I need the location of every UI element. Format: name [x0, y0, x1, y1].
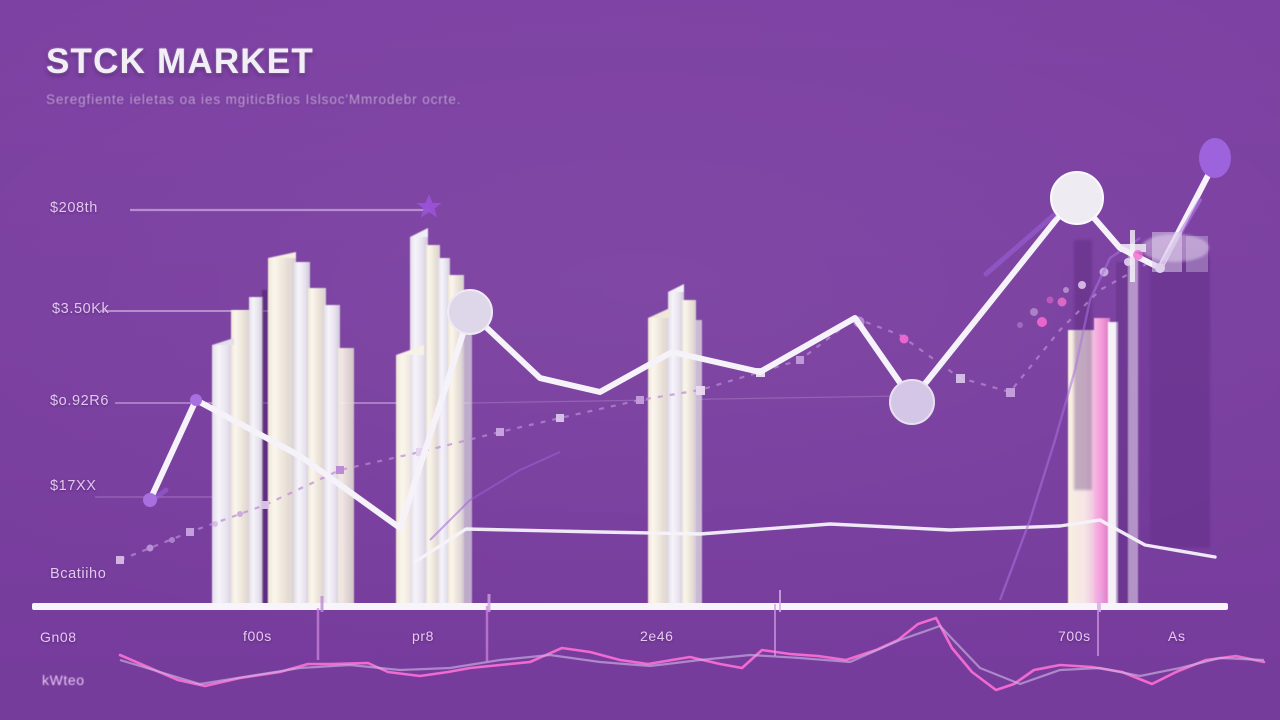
x-axis-label-2: pr8	[412, 628, 434, 644]
y-axis-label-2: $o.92R6	[50, 393, 109, 409]
y-axis-label-0: $208th	[50, 200, 98, 216]
sparkline-label: kWteo	[42, 672, 85, 688]
bar-cluster-1[interactable]	[212, 252, 354, 607]
x-axis-label-3: 2e46	[640, 628, 674, 644]
bottom-sparkline[interactable]	[120, 602, 1264, 690]
star-marker	[416, 194, 441, 217]
violet-accent-line	[430, 238, 1140, 600]
y-axis-label-3: $17XX	[50, 478, 97, 494]
x-axis-label-1: f00s	[243, 628, 272, 644]
x-axis-label-5: As	[1168, 628, 1186, 644]
y-axis-label-1: $3.50Kk	[52, 301, 109, 317]
chart-canvas: STCK MARKET Seregfiente ieletas oa ies m…	[0, 0, 1280, 720]
bar-cluster-3[interactable]	[648, 284, 702, 607]
x-axis-label-4: 700s	[1058, 628, 1091, 644]
chart-svg	[0, 0, 1280, 720]
x-axis-label-0: Gn08	[40, 629, 77, 645]
y-axis-label-4: Bcatiiho	[50, 566, 106, 582]
x-axis-baseline	[32, 603, 1228, 610]
